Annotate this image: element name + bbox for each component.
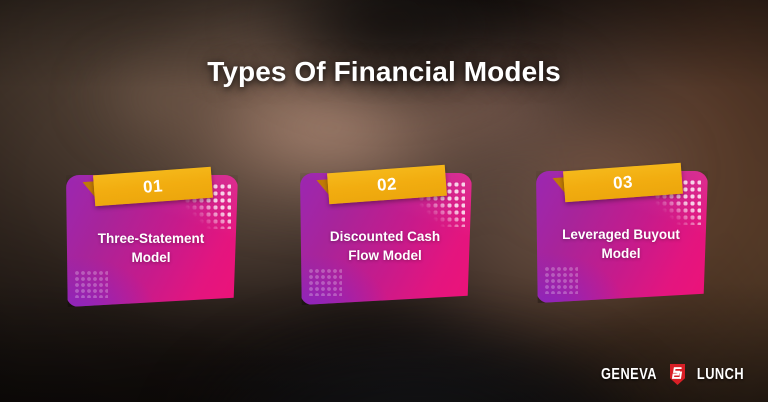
card-label: Discounted CashFlow Model: [308, 227, 462, 265]
card-list: Three-StatementModel 01 Discounted CashF…: [0, 163, 768, 313]
shield-icon: [669, 364, 686, 385]
logo-word-left: GENEVA: [601, 366, 657, 384]
card-label: Leveraged BuyoutModel: [544, 225, 698, 263]
list-item[interactable]: Discounted CashFlow Model 02: [300, 173, 472, 305]
dot-pattern-icon: [74, 270, 108, 298]
logo-word-right: LUNCH: [697, 366, 744, 384]
dot-pattern-icon: [544, 266, 578, 294]
list-item[interactable]: Leveraged BuyoutModel 03: [536, 171, 708, 303]
dot-pattern-icon: [308, 268, 342, 296]
card-label: Three-StatementModel: [74, 229, 228, 267]
page-title: Types Of Financial Models: [0, 56, 768, 88]
infographic-canvas: Types Of Financial Models Three-Statemen…: [0, 0, 768, 402]
list-item[interactable]: Three-StatementModel 01: [66, 175, 238, 307]
brand-logo[interactable]: GENEVA LUNCH: [594, 364, 750, 385]
